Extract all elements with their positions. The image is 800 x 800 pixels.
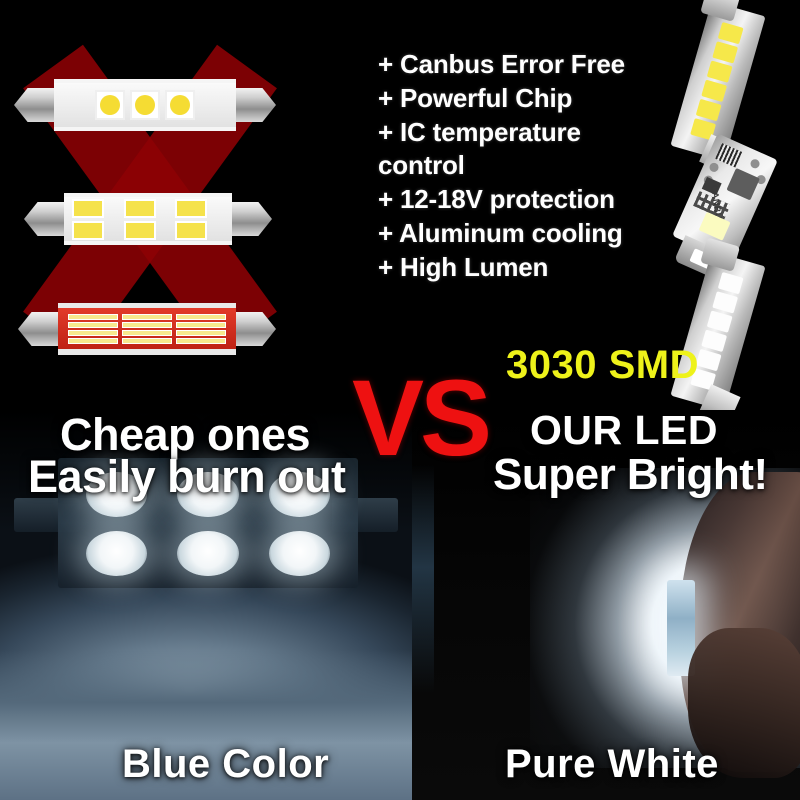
smd-chip <box>175 221 207 240</box>
right-photo-caption: Pure White <box>505 742 719 787</box>
feature-item: control <box>378 149 698 183</box>
smd-chip <box>124 199 156 218</box>
bulb-end-cap-right <box>236 312 276 346</box>
festoon-bulb-6smd-icon <box>24 186 272 252</box>
festoon-bulb-3smd-icon <box>14 72 276 138</box>
smd-chip <box>130 90 160 120</box>
feature-item: + Canbus Error Free <box>378 48 698 82</box>
our-led-subtitle: Super Bright! <box>493 450 768 500</box>
left-photo-caption: Blue Color <box>122 742 329 787</box>
product-comparison-image: CANBUS + Can <box>0 0 800 800</box>
ic-chip <box>726 168 760 201</box>
smd-chip-cluster <box>122 314 172 344</box>
chip-type-label: 3030 SMD <box>506 343 699 388</box>
bulb-end-cap-right <box>236 88 276 122</box>
vs-label: VS <box>352 368 488 467</box>
led-emitter <box>699 212 731 241</box>
feature-item: + Powerful Chip <box>378 82 698 116</box>
smd-chip-cluster <box>68 314 118 344</box>
smd-chip-grid <box>58 314 236 344</box>
feature-item: + High Lumen <box>378 251 698 285</box>
festoon-bulb-red-pcb-icon <box>18 296 276 362</box>
lit-led <box>86 531 147 576</box>
smd-chip <box>165 90 195 120</box>
bulb-pcb-red <box>58 303 236 355</box>
bulb-end-cap-left <box>24 202 64 236</box>
bulb-pcb <box>64 193 232 245</box>
top-comparison-panel: CANBUS + Can <box>0 0 800 412</box>
bulb-pcb <box>54 79 236 131</box>
smd-chip-row <box>54 90 236 120</box>
smd-chip-cluster <box>176 314 226 344</box>
bulb-end-cap-left <box>18 312 58 346</box>
smd-chip <box>95 90 125 120</box>
smd-chip-grid <box>64 199 232 240</box>
bulb-end-cap-left <box>14 88 54 122</box>
bulb-end-cap-right <box>232 202 272 236</box>
smd-chip <box>72 199 104 218</box>
qr-marking <box>715 143 742 167</box>
feature-item: + IC temperature <box>378 116 698 150</box>
smd-chip <box>72 221 104 240</box>
lit-led <box>177 531 238 576</box>
photo-edge-highlight <box>412 464 434 694</box>
feature-list: + Canbus Error Free + Powerful Chip + IC… <box>378 48 698 285</box>
smd-chip <box>124 221 156 240</box>
feature-item: + Aluminum cooling <box>378 217 698 251</box>
our-led-title: OUR LED <box>530 407 718 454</box>
cheap-subtitle: Easily burn out <box>28 451 346 503</box>
smd-chip <box>175 199 207 218</box>
lit-led <box>269 531 330 576</box>
feature-item: + 12-18V protection <box>378 183 698 217</box>
